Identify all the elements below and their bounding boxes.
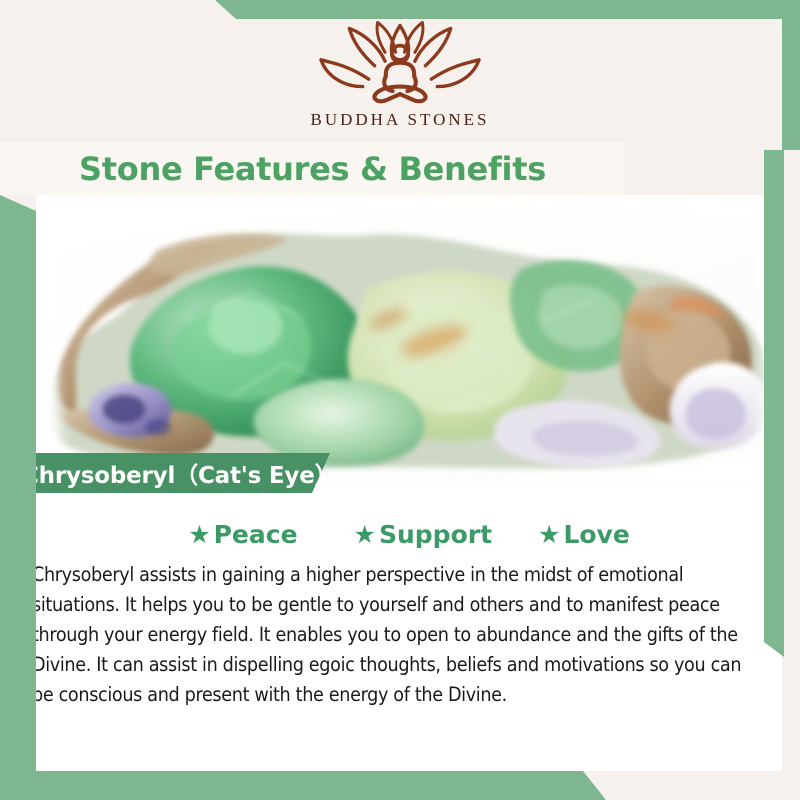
section-title-banner: Stone Features & Benefits (0, 142, 625, 195)
keyword-love: ★ Love (538, 520, 630, 549)
star-icon: ★ (188, 522, 210, 547)
keyword-peace: ★ Peace (188, 520, 297, 549)
page-title: Stone Features & Benefits (79, 150, 546, 188)
keyword-support-label: Support (379, 520, 492, 549)
stone-photo (36, 195, 782, 485)
stone-description: Chrysoberyl assists in gaining a higher … (32, 560, 754, 710)
benefit-keywords: ★ Peace ★ Support ★ Love (36, 514, 782, 554)
brand-name: BUDDHA STONES (311, 110, 490, 130)
keyword-peace-label: Peace (214, 520, 298, 549)
header-area: BUDDHA STONES Stone Features & Benefits (0, 0, 800, 195)
stone-name-text: Chrysoberyl（Cat's Eye） (22, 456, 337, 490)
frame-left-accent-bar (0, 195, 36, 771)
frame-right-accent-bar-lower (764, 150, 784, 657)
stone-name-label: Chrysoberyl（Cat's Eye） (0, 453, 330, 493)
star-icon: ★ (354, 522, 376, 547)
stone-photo-image (36, 195, 782, 485)
frame-bottom-accent-band (0, 771, 800, 800)
keyword-support: ★ Support (354, 520, 492, 549)
star-icon: ★ (538, 522, 560, 547)
frame-right-accent-bar (782, 0, 800, 150)
lotus-meditation-figure-icon (310, 18, 490, 106)
brand-logo: BUDDHA STONES (0, 18, 800, 130)
keyword-love-label: Love (563, 520, 629, 549)
